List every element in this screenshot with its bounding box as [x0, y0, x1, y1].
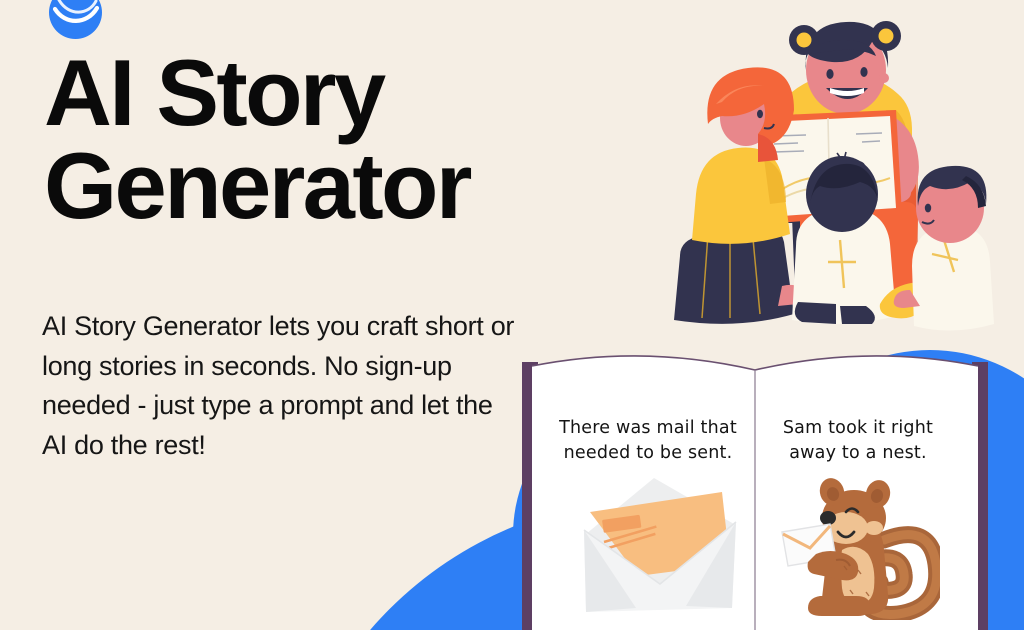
page-title: AI Story Generator: [44, 46, 644, 232]
teacher-reading-to-children-icon: [660, 18, 1024, 338]
book-caption-right: Sam took it right away to a nest.: [760, 416, 956, 466]
hero-description: AI Story Generator lets you craft short …: [42, 307, 522, 466]
storybook-preview: There was mail that needed to be sent. S…: [522, 348, 988, 630]
book-caption-left: There was mail that needed to be sent.: [550, 416, 746, 466]
brand-logo-icon[interactable]: [49, 0, 102, 39]
squirrel-holding-letter-icon: [780, 474, 940, 620]
hero-banner: AI Story Generator AI Story Generator le…: [0, 0, 1024, 630]
open-envelope-with-letter-icon: [580, 476, 740, 616]
